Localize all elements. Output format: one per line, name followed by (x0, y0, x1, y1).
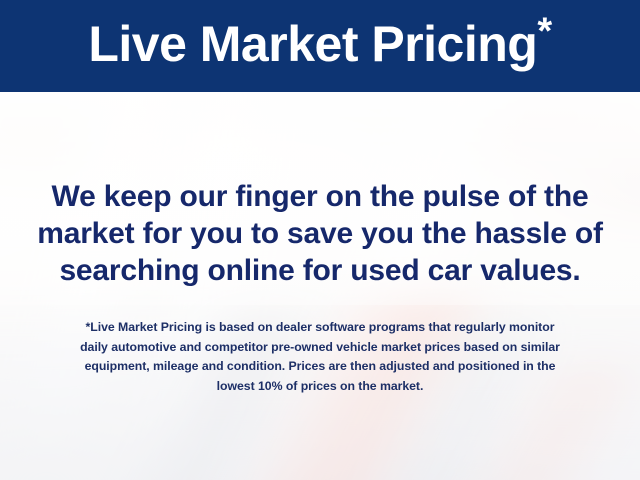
fine-print-line-2: daily automotive and competitor pre-owne… (0, 338, 640, 358)
fine-print-line-4: lowest 10% of prices on the market. (0, 377, 640, 397)
page-title-text: Live Market Pricing (88, 16, 537, 72)
headline: We keep our finger on the pulse of the m… (0, 178, 640, 289)
header-band: Live Market Pricing* (0, 0, 640, 92)
fine-print-line-3: equipment, mileage and condition. Prices… (0, 357, 640, 377)
page-title-asterisk: * (537, 10, 551, 52)
fine-print-line-1: *Live Market Pricing is based on dealer … (0, 318, 640, 338)
page-title: Live Market Pricing* (88, 19, 551, 73)
headline-line-3: searching online for used car values. (0, 252, 640, 289)
live-market-pricing-banner: Live Market Pricing* We keep our finger … (0, 0, 640, 480)
headline-line-1: We keep our finger on the pulse of the (0, 178, 640, 215)
headline-line-2: market for you to save you the hassle of (0, 215, 640, 252)
fine-print-disclaimer: *Live Market Pricing is based on dealer … (0, 318, 640, 396)
